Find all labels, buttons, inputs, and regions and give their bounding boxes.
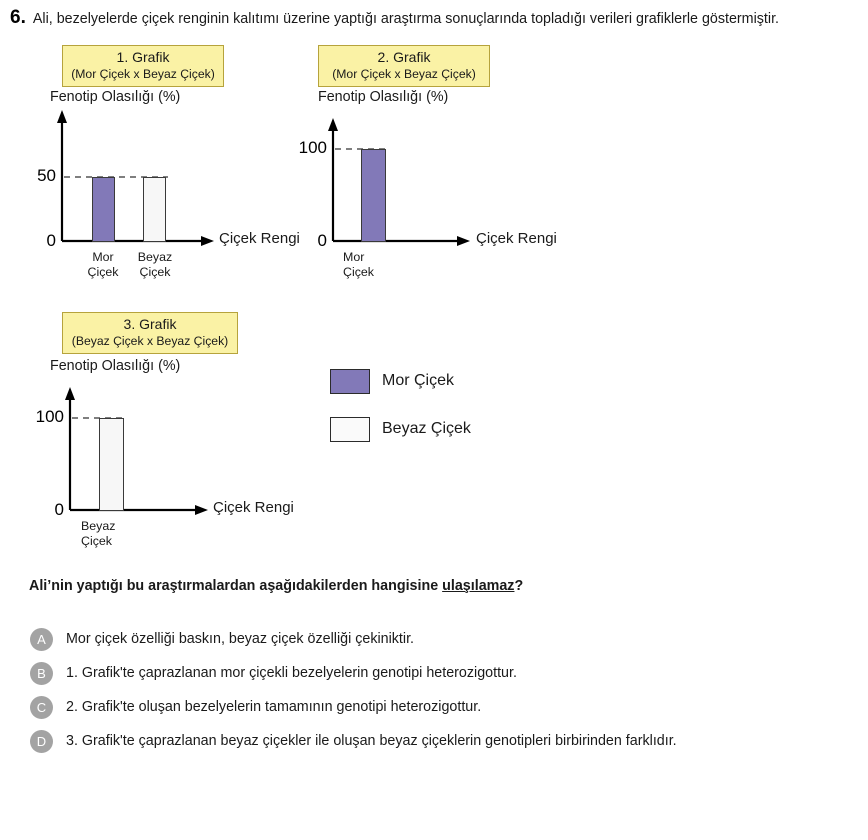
option-b-text[interactable]: 1. Grafik'te çaprazlanan mor çiçekli bez…: [66, 665, 517, 681]
leadin-text-after: ?: [514, 578, 523, 594]
option-b-marker[interactable]: B: [30, 662, 53, 685]
legend-label-beyaz-cicek: Beyaz Çiçek: [382, 420, 471, 438]
chart-2-x-axis-label: Çiçek Rengi: [476, 230, 557, 247]
legend-label-mor-cicek: Mor Çiçek: [382, 372, 454, 390]
chart-2-tick-100: 100: [275, 138, 327, 158]
leadin-emphasis: ulaşılamaz: [442, 578, 514, 594]
white-flower-swatch: [330, 417, 370, 442]
answer-options: A Mor çiçek özelliği baskın, beyaz çiçek…: [30, 622, 840, 758]
leadin-text-before: Ali’nin yaptığı bu araştırmalardan aşağı…: [29, 578, 442, 594]
chart-2: 2. Grafik (Mor Çiçek x Beyaz Çiçek) Feno…: [0, 0, 600, 290]
purple-flower-swatch: [330, 369, 370, 394]
option-c[interactable]: C 2. Grafik'te oluşan bezelyelerin tamam…: [30, 690, 840, 724]
chart-2-bar-mor-cicek: [361, 149, 386, 242]
option-d[interactable]: D 3. Grafik'te çaprazlanan beyaz çiçekle…: [30, 724, 840, 758]
chart-3-tick-100: 100: [12, 407, 64, 427]
option-b[interactable]: B 1. Grafik'te çaprazlanan mor çiçekli b…: [30, 656, 840, 690]
option-a-text[interactable]: Mor çiçek özelliği baskın, beyaz çiçek ö…: [66, 631, 414, 647]
option-a-marker[interactable]: A: [30, 628, 53, 651]
chart-3-category-0-line-0: Beyaz: [81, 519, 115, 533]
chart-2-category-0-line-0: Mor: [343, 250, 364, 264]
option-a[interactable]: A Mor çiçek özelliği baskın, beyaz çiçek…: [30, 622, 840, 656]
chart-3-tick-0: 0: [12, 500, 64, 520]
question-leadin: Ali’nin yaptığı bu araştırmalardan aşağı…: [29, 578, 523, 594]
chart-legend: Mor Çiçek Beyaz Çiçek: [330, 368, 471, 464]
option-d-text[interactable]: 3. Grafik'te çaprazlanan beyaz çiçekler …: [66, 733, 677, 749]
option-c-marker[interactable]: C: [30, 696, 53, 719]
option-c-text[interactable]: 2. Grafik'te oluşan bezelyelerin tamamın…: [66, 699, 481, 715]
chart-2-category-0-line-1: Çiçek: [343, 265, 374, 279]
chart-3-x-axis-label: Çiçek Rengi: [213, 499, 294, 516]
chart-2-category-label-0: Mor Çiçek: [343, 250, 403, 279]
chart-3-category-0-line-1: Çiçek: [81, 534, 112, 548]
legend-item-beyaz-cicek: Beyaz Çiçek: [330, 416, 471, 442]
option-d-marker[interactable]: D: [30, 730, 53, 753]
chart-3-category-label-0: Beyaz Çiçek: [81, 519, 143, 548]
legend-item-mor-cicek: Mor Çiçek: [330, 368, 471, 394]
chart-2-tick-0: 0: [275, 231, 327, 251]
chart-3-bar-beyaz-cicek: [99, 418, 124, 511]
chart-3: 3. Grafik (Beyaz Çiçek x Beyaz Çiçek) Fe…: [0, 268, 340, 558]
